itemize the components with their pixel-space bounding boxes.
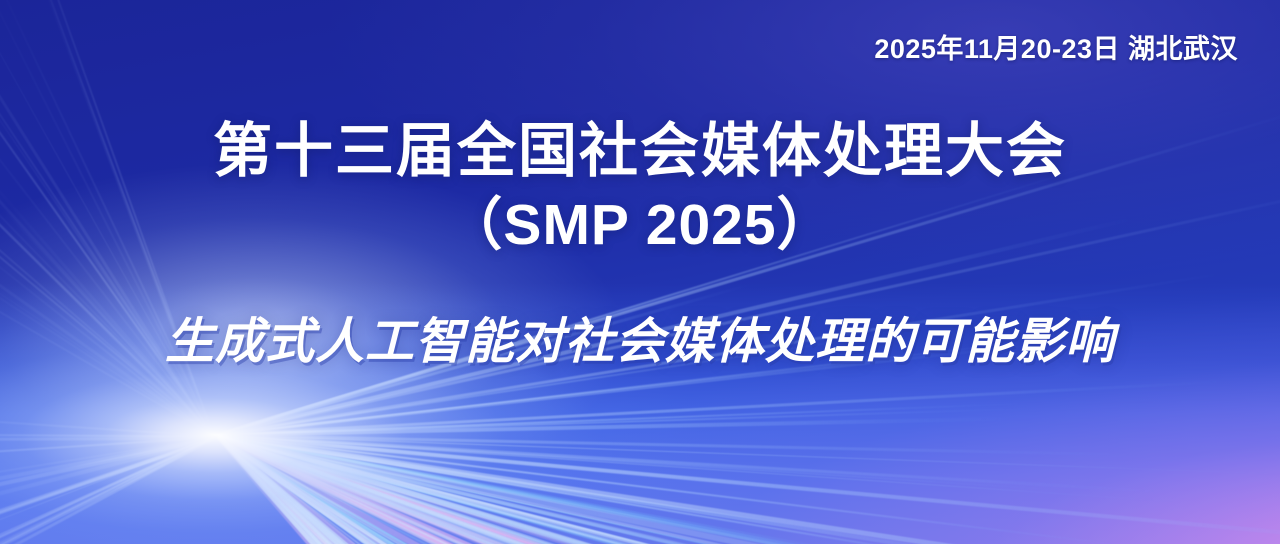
banner-content: 2025年11月20-23日 湖北武汉 第十三届全国社会媒体处理大会 （SMP … [0,0,1280,544]
conference-subtitle: 生成式人工智能对社会媒体处理的可能影响 [0,316,1280,370]
conference-title-line-2: （SMP 2025） [0,193,1280,257]
conference-title-line-1: 第十三届全国社会媒体处理大会 [0,118,1280,185]
conference-banner: 2025年11月20-23日 湖北武汉 第十三届全国社会媒体处理大会 （SMP … [0,0,1280,544]
date-location-label: 2025年11月20-23日 湖北武汉 [874,36,1238,63]
conference-title: 第十三届全国社会媒体处理大会 （SMP 2025） [0,118,1280,257]
